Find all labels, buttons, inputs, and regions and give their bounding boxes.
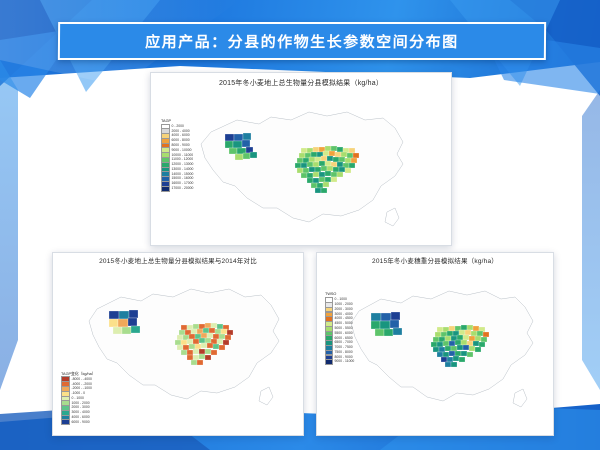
legend-label: -8000 - -4000	[72, 378, 92, 381]
figure-caption-bottom-right: 2015年冬小麦穗重分县模拟结果（kg/ha）	[317, 253, 553, 267]
legend-label: 2000 - 3000	[335, 308, 353, 311]
figure-card-bottom-right: 2015年冬小麦穗重分县模拟结果（kg/ha）	[316, 252, 554, 436]
legend-label: -1000 - 0	[72, 392, 86, 395]
slide-title-bar: 应用产品：分县的作物生长参数空间分布图	[58, 22, 546, 60]
deco-edge-right	[570, 90, 600, 390]
legend-swatch	[61, 419, 70, 425]
legend-label: 0 - 1000	[72, 397, 84, 400]
page-title: 应用产品：分县的作物生长参数空间分布图	[145, 31, 459, 52]
legend-label: 6000 - 9000	[72, 421, 90, 424]
legend-swatch	[161, 186, 170, 192]
legend-label: 17000 - 20000	[172, 187, 194, 190]
legend-row: 6000 - 9000	[61, 420, 96, 424]
legend-label: 4000 - 6000	[72, 416, 90, 419]
figure-card-bottom-left: 2015冬小麦地上总生物量分县模拟结果与2014年对比	[52, 252, 304, 436]
legend-bottom-left: TAGP变化（kg/ha） -8000 - -4000 -4000 - -200…	[61, 373, 96, 426]
legend-label: 7500 - 8000	[335, 351, 353, 354]
map-top: TAGP 0 - 2000 2000 - 4000 4000 - 6000 60…	[151, 90, 451, 244]
figure-card-top: 2015年冬小麦地上总生物量分县模拟结果（kg/ha）	[150, 72, 452, 246]
legend-bottom-right: TWSO 0 - 1000 1000 - 2000 2000 - 3000 30…	[325, 293, 354, 365]
legend-label: 13000 - 14000	[172, 168, 194, 171]
legend-swatch	[325, 359, 333, 365]
legend-top: TAGP 0 - 2000 2000 - 4000 4000 - 6000 60…	[161, 120, 193, 192]
china-map-top-svg	[151, 90, 451, 244]
legend-label: 5000 - 5500	[335, 327, 353, 330]
slide-root: 应用产品：分县的作物生长参数空间分布图 2015年冬小麦地上总生物量分县模拟结果…	[0, 0, 600, 450]
legend-label: 0 - 2000	[172, 125, 184, 128]
legend-label: 1000 - 2000	[335, 303, 353, 306]
legend-label: 9000 - 11000	[335, 360, 355, 363]
figure-caption-top: 2015年冬小麦地上总生物量分县模拟结果（kg/ha）	[151, 73, 451, 90]
deco-edge-left	[0, 60, 34, 390]
figure-caption-bottom-left: 2015冬小麦地上总生物量分县模拟结果与2014年对比	[53, 253, 303, 267]
map-bottom-right: TWSO 0 - 1000 1000 - 2000 2000 - 3000 30…	[317, 267, 553, 431]
map-bottom-left: TAGP变化（kg/ha） -8000 - -4000 -4000 - -200…	[53, 267, 303, 431]
legend-row: 17000 - 20000	[161, 187, 193, 191]
legend-label: 8000 - 9000	[172, 144, 190, 147]
legend-row: 9000 - 11000	[325, 360, 354, 364]
legend-label: 9000 - 10000	[172, 149, 192, 152]
legend-label: 5500 - 6000	[335, 332, 353, 335]
